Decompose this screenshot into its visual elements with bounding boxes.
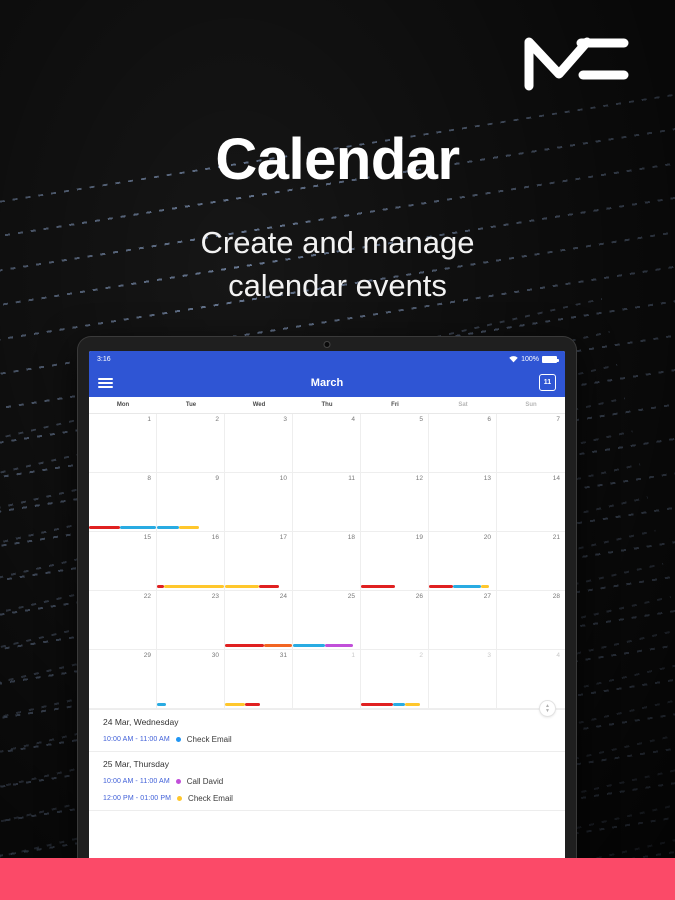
agenda-event-time: 10:00 AM - 11:00 AM <box>103 736 170 743</box>
event-bar-segment[interactable] <box>225 585 259 588</box>
day-number: 9 <box>215 475 219 482</box>
day-number: 3 <box>487 652 491 659</box>
event-bar-segment[interactable] <box>157 703 166 706</box>
app-bar: March 11 <box>89 368 565 397</box>
day-number: 10 <box>280 475 287 482</box>
agenda-event-time: 10:00 AM - 11:00 AM <box>103 778 170 785</box>
day-cell[interactable]: 4 <box>293 414 361 473</box>
event-bar-row[interactable] <box>361 585 428 588</box>
event-bar-row[interactable] <box>361 703 428 706</box>
day-cell[interactable]: 24 <box>225 591 293 650</box>
day-number: 2 <box>215 416 219 423</box>
event-bar-segment[interactable] <box>405 703 420 706</box>
event-bars <box>225 585 292 588</box>
event-bar-segment[interactable] <box>225 703 245 706</box>
weekday-header-row: MonTueWedThuFriSatSun <box>89 397 565 414</box>
event-bars <box>361 703 428 706</box>
agenda-day-group: 25 Mar, Thursday10:00 AM - 11:00 AMCall … <box>89 752 565 811</box>
day-number: 6 <box>487 416 491 423</box>
event-bars <box>157 703 224 706</box>
day-number: 20 <box>484 534 491 541</box>
agenda-event-title: Call David <box>187 777 223 786</box>
day-number: 3 <box>283 416 287 423</box>
agenda-event-item[interactable]: 10:00 AM - 11:00 AMCall David <box>89 771 565 788</box>
day-cell[interactable]: 10 <box>225 473 293 532</box>
event-bar-segment[interactable] <box>453 585 481 588</box>
expand-collapse-handle-icon[interactable]: ▲ ▼ <box>539 700 556 717</box>
day-cell[interactable]: 3 <box>225 414 293 473</box>
event-bars <box>361 585 428 588</box>
status-bar: 3:16 100% <box>89 351 565 368</box>
day-cell[interactable]: 23 <box>157 591 225 650</box>
chevron-down-icon: ▼ <box>545 709 550 713</box>
weekday-label-tue: Tue <box>157 402 225 408</box>
page-subtitle: Create and manage calendar events <box>0 222 675 308</box>
event-bar-segment[interactable] <box>164 585 224 588</box>
event-bar-segment[interactable] <box>157 585 164 588</box>
event-bar-segment[interactable] <box>264 644 292 647</box>
event-bar-row[interactable] <box>157 526 224 529</box>
day-cell[interactable]: 6 <box>429 414 497 473</box>
day-number: 18 <box>348 534 355 541</box>
event-bar-segment[interactable] <box>89 526 120 529</box>
battery-full-icon <box>542 356 557 363</box>
event-bar-segment[interactable] <box>120 526 156 529</box>
event-bar-row[interactable] <box>225 644 292 647</box>
day-number: 8 <box>147 475 151 482</box>
day-cell[interactable]: 7 <box>497 414 565 473</box>
day-cell[interactable]: 31 <box>225 650 293 709</box>
day-cell[interactable]: 2 <box>361 650 429 709</box>
day-cell[interactable]: 13 <box>429 473 497 532</box>
weekday-label-sat: Sat <box>429 402 497 408</box>
day-cell[interactable]: 1 <box>293 650 361 709</box>
day-cell[interactable]: 4 <box>497 650 565 709</box>
day-number: 19 <box>416 534 423 541</box>
month-grid[interactable]: 1234567891011121314151617181920212223242… <box>89 414 565 709</box>
app-bar-title: March <box>89 377 565 389</box>
day-number: 17 <box>280 534 287 541</box>
day-number: 11 <box>348 475 355 482</box>
day-number: 30 <box>212 652 219 659</box>
day-cell[interactable]: 3 <box>429 650 497 709</box>
event-bar-segment[interactable] <box>245 703 260 706</box>
calendar-today-icon[interactable]: 11 <box>539 374 556 391</box>
event-bar-segment[interactable] <box>393 703 405 706</box>
day-cell[interactable]: 1 <box>89 414 157 473</box>
day-number: 2 <box>419 652 423 659</box>
day-cell[interactable]: 28 <box>497 591 565 650</box>
day-number: 21 <box>553 534 560 541</box>
weekday-label-fri: Fri <box>361 402 429 408</box>
page-title: Calendar <box>0 126 675 193</box>
agenda-date-heading: 24 Mar, Wednesday <box>89 717 565 729</box>
event-bars <box>293 644 360 647</box>
day-number: 4 <box>556 652 560 659</box>
hamburger-menu-icon[interactable] <box>98 378 113 388</box>
day-number: 27 <box>484 593 491 600</box>
wifi-icon <box>509 356 518 363</box>
day-cell[interactable]: 5 <box>361 414 429 473</box>
day-cell[interactable]: 8 <box>89 473 157 532</box>
day-number: 29 <box>144 652 151 659</box>
event-bars <box>225 644 292 647</box>
day-cell[interactable]: 2 <box>157 414 225 473</box>
day-cell[interactable]: 16 <box>157 532 225 591</box>
event-bar-segment[interactable] <box>293 644 325 647</box>
agenda-event-time: 12:00 PM - 01:00 PM <box>103 795 171 802</box>
day-cell[interactable]: 20 <box>429 532 497 591</box>
day-number: 14 <box>553 475 560 482</box>
day-cell[interactable]: 30 <box>157 650 225 709</box>
agenda-event-color-dot <box>177 796 182 801</box>
day-number: 16 <box>212 534 219 541</box>
front-camera-icon <box>325 342 330 347</box>
day-cell[interactable]: 12 <box>361 473 429 532</box>
day-number: 4 <box>351 416 355 423</box>
event-bar-segment[interactable] <box>361 585 395 588</box>
event-bar-segment[interactable] <box>429 585 453 588</box>
event-bar-segment[interactable] <box>361 703 393 706</box>
agenda-date-heading: 25 Mar, Thursday <box>89 759 565 771</box>
day-cell[interactable]: 19 <box>361 532 429 591</box>
day-number: 15 <box>144 534 151 541</box>
weekday-label-wed: Wed <box>225 402 293 408</box>
event-bars <box>157 526 224 529</box>
day-cell[interactable]: 17 <box>225 532 293 591</box>
today-date-label: 11 <box>544 379 551 386</box>
agenda-event-item[interactable]: 10:00 AM - 11:00 AMCheck Email <box>89 729 565 746</box>
event-bars <box>429 585 496 588</box>
event-bar-segment[interactable] <box>481 585 489 588</box>
event-bar-row[interactable] <box>157 585 224 588</box>
day-number: 1 <box>147 416 151 423</box>
agenda-list[interactable]: 24 Mar, Wednesday10:00 AM - 11:00 AMChec… <box>89 709 565 873</box>
battery-percent-label: 100% <box>521 356 539 363</box>
agenda-day-group: 24 Mar, Wednesday10:00 AM - 11:00 AMChec… <box>89 710 565 752</box>
event-bar-segment[interactable] <box>157 526 179 529</box>
day-cell[interactable]: 18 <box>293 532 361 591</box>
day-number: 24 <box>280 593 287 600</box>
day-cell[interactable]: 25 <box>293 591 361 650</box>
agenda-event-item[interactable]: 12:00 PM - 01:00 PMCheck Email <box>89 788 565 805</box>
day-number: 26 <box>416 593 423 600</box>
day-number: 28 <box>553 593 560 600</box>
agenda-event-color-dot <box>176 737 181 742</box>
agenda-event-color-dot <box>176 779 181 784</box>
day-cell[interactable]: 9 <box>157 473 225 532</box>
day-number: 13 <box>484 475 491 482</box>
day-cell[interactable]: 27 <box>429 591 497 650</box>
event-bars <box>157 585 224 588</box>
event-bars <box>89 526 156 529</box>
agenda-event-title: Check Email <box>187 735 232 744</box>
day-cell[interactable]: 14 <box>497 473 565 532</box>
event-bar-row[interactable] <box>429 585 496 588</box>
day-number: 12 <box>416 475 423 482</box>
status-time: 3:16 <box>97 356 111 363</box>
tablet-screen: 3:16 100% March 11 <box>89 351 565 873</box>
mc-logo <box>521 34 633 92</box>
event-bar-segment[interactable] <box>325 644 353 647</box>
weekday-label-sun: Sun <box>497 402 565 408</box>
day-cell[interactable]: 26 <box>361 591 429 650</box>
day-number: 7 <box>556 416 560 423</box>
day-number: 5 <box>419 416 423 423</box>
day-cell[interactable]: 11 <box>293 473 361 532</box>
event-bar-row[interactable] <box>225 703 292 706</box>
event-bar-row[interactable] <box>157 703 224 706</box>
event-bar-segment[interactable] <box>259 585 279 588</box>
agenda-event-title: Check Email <box>188 794 233 803</box>
event-bar-segment[interactable] <box>225 644 264 647</box>
event-bar-segment[interactable] <box>179 526 199 529</box>
bottom-accent-band <box>0 858 675 900</box>
day-number: 31 <box>280 652 287 659</box>
event-bar-row[interactable] <box>89 526 156 529</box>
day-cell[interactable]: 15 <box>89 532 157 591</box>
event-bar-row[interactable] <box>225 585 292 588</box>
day-cell[interactable]: 29 <box>89 650 157 709</box>
event-bar-row[interactable] <box>293 644 360 647</box>
weekday-label-mon: Mon <box>89 402 157 408</box>
day-cell[interactable]: 22 <box>89 591 157 650</box>
promo-screenshot: Calendar Create and manage calendar even… <box>0 0 675 900</box>
day-cell[interactable]: 21 <box>497 532 565 591</box>
event-bars <box>225 703 292 706</box>
day-number: 1 <box>351 652 355 659</box>
day-number: 22 <box>144 593 151 600</box>
day-number: 25 <box>348 593 355 600</box>
weekday-label-thu: Thu <box>293 402 361 408</box>
day-number: 23 <box>212 593 219 600</box>
tablet-device-frame: 3:16 100% March 11 <box>78 337 576 873</box>
